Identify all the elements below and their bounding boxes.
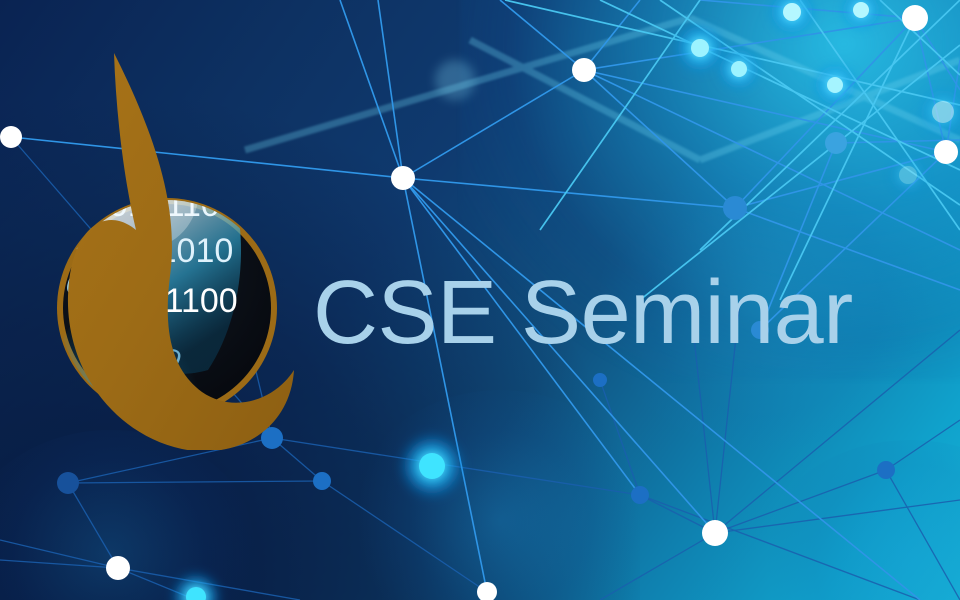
svg-text:10: 10 xyxy=(42,167,78,203)
svg-text:1 /: 1 / xyxy=(61,66,103,107)
cse-seminar-banner: 1 / 10 10 010 010. 01010 1 1 1 1 1010110… xyxy=(0,0,960,600)
svg-text:10: 10 xyxy=(44,115,84,155)
page-title: CSE Seminar xyxy=(313,268,853,358)
svg-text:1 1 1 1: 1 1 1 1 xyxy=(93,40,190,58)
cse-seminar-logo: 1 / 10 10 010 010. 01010 1 1 1 1 1010110… xyxy=(42,40,342,450)
